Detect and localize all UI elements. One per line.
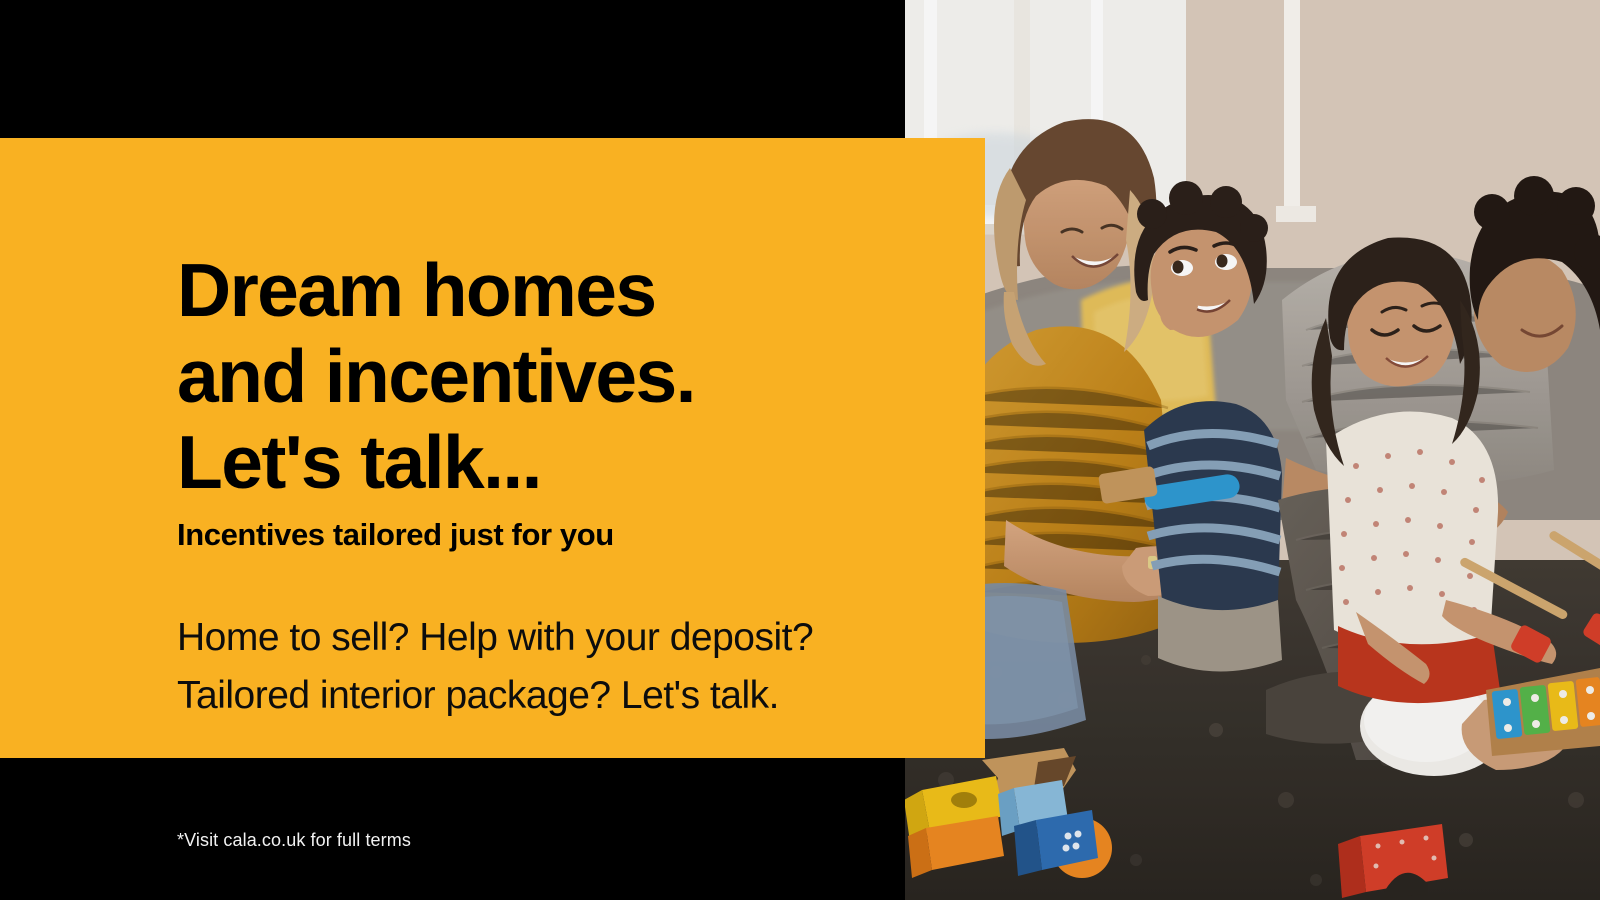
family-lifestyle-photo	[886, 0, 1600, 900]
subheading: Incentives tailored just for you	[177, 515, 937, 555]
promo-banner: Dream homes and incentives. Let's talk..…	[0, 0, 1600, 900]
body-copy: Home to sell? Help with your deposit? Ta…	[177, 609, 967, 725]
photo-artwork	[886, 0, 1600, 900]
terms-disclaimer: *Visit cala.co.uk for full terms	[177, 830, 411, 851]
page-title: Dream homes and incentives. Let's talk..…	[177, 247, 937, 505]
